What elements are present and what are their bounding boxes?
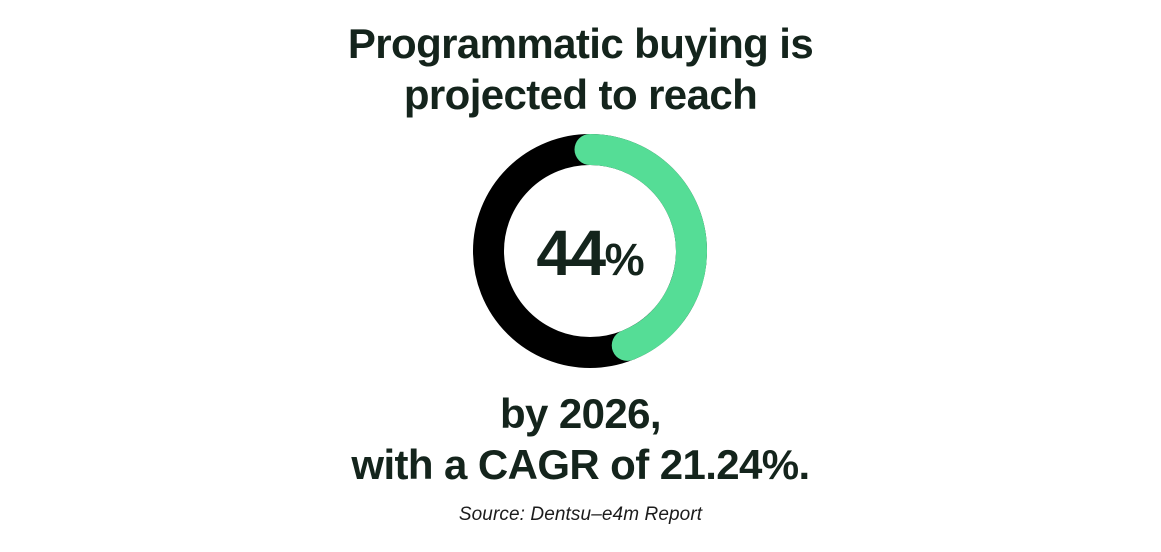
- subline-line-2: with a CAGR of 21.24%.: [0, 439, 1161, 490]
- source-attribution: Source: Dentsu–e4m Report: [0, 503, 1161, 527]
- donut-chart: 44 %: [472, 133, 708, 369]
- infographic-canvas: Programmatic buying is projected to reac…: [0, 0, 1161, 552]
- headline-line-2: projected to reach: [0, 69, 1161, 120]
- subtitle: by 2026, with a CAGR of 21.24%.: [0, 388, 1161, 490]
- donut-chart-svg: [472, 133, 708, 369]
- subline-line-1: by 2026,: [0, 388, 1161, 439]
- headline-line-1: Programmatic buying is: [0, 18, 1161, 69]
- page-title: Programmatic buying is projected to reac…: [0, 18, 1161, 120]
